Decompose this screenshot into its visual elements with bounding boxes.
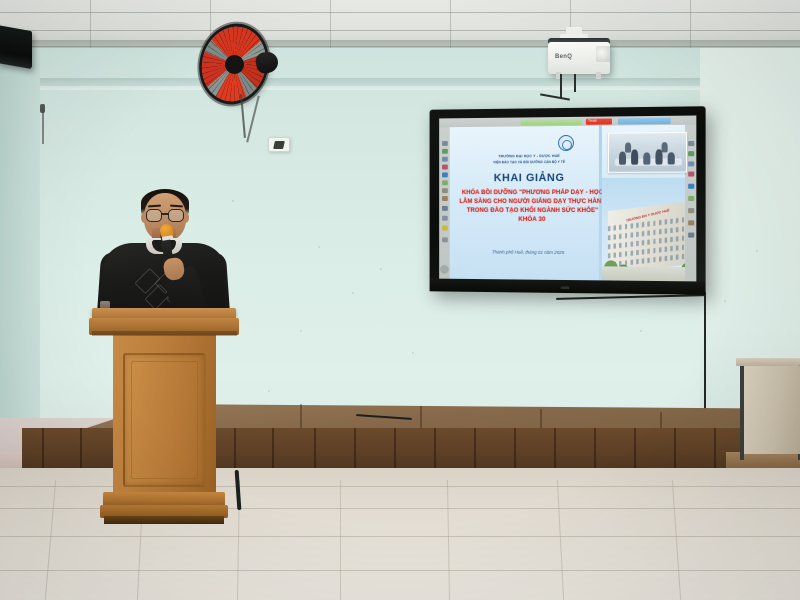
display-brand-logo: IWB xyxy=(561,285,570,290)
slide-org-line-1: TRƯỜNG ĐẠI HỌC Y - DƯỢC HUẾ xyxy=(463,154,596,159)
screen-surface[interactable]: Thoát xyxy=(439,116,696,282)
rail-icon-1[interactable] xyxy=(442,141,448,146)
rail-icon-6[interactable] xyxy=(442,180,448,185)
conference-hall-photo: BenQ Thoát xyxy=(0,0,800,600)
rail-r-icon-5[interactable] xyxy=(688,184,694,189)
slide-body-line-1: KHÓA BỒI DƯỠNG "PHƯƠNG PHÁP DẠY - HỌC xyxy=(454,189,612,196)
slide-body-line-2: LÂM SÀNG CHO NGƯỜI GIẢNG DẠY THỰC HÀNH xyxy=(454,198,612,205)
toolbar-blue-panel[interactable] xyxy=(618,117,671,124)
slide-body-line-4: KHÓA 30 xyxy=(454,216,612,223)
left-wall xyxy=(0,48,40,418)
rail-icon-12[interactable] xyxy=(442,237,448,242)
presentation-display[interactable]: Thoát xyxy=(430,106,706,295)
rail-r-icon-9[interactable] xyxy=(688,233,694,238)
side-table-panel xyxy=(744,366,800,454)
rail-icon-10[interactable] xyxy=(442,216,448,221)
slide-heading: KHAI GIẢNG xyxy=(463,172,596,184)
wall-outlet-icon xyxy=(268,137,290,152)
rail-icon-9[interactable] xyxy=(442,206,448,211)
rail-icon-2[interactable] xyxy=(442,149,448,154)
wall-fan-icon xyxy=(198,28,286,108)
rail-r-icon-7[interactable] xyxy=(688,208,694,213)
rail-icon-5[interactable] xyxy=(442,172,448,177)
projector-lens xyxy=(596,46,610,62)
rail-r-icon-1[interactable] xyxy=(688,141,694,146)
eyeglasses-icon xyxy=(146,209,162,222)
rail-icon-11[interactable] xyxy=(442,226,448,231)
rail-r-icon-3[interactable] xyxy=(688,161,694,166)
projector-brand-label: BenQ xyxy=(555,54,572,60)
rail-r-icon-8[interactable] xyxy=(688,220,694,225)
rail-r-icon-6[interactable] xyxy=(688,196,694,201)
slide-classroom-photo xyxy=(608,132,687,173)
left-tool-rail[interactable] xyxy=(439,127,450,279)
toolbar-red-label: Thoát xyxy=(588,119,597,124)
side-table-icon xyxy=(736,358,800,366)
slide-body-line-3: TRONG ĐÀO TẠO KHỐI NGÀNH SỨC KHỎE" xyxy=(454,207,612,214)
slide-content: TRƯỜNG ĐẠI HỌC Y - DƯỢC HUẾ VIỆN ĐÀO TẠO… xyxy=(450,125,685,282)
rail-home-button[interactable] xyxy=(440,265,449,274)
slide-building-photo: TRƯỜNG ĐH Y DƯỢC HUẾ xyxy=(602,178,685,282)
rail-icon-4[interactable] xyxy=(442,165,448,170)
slide-org-line-2: VIỆN ĐÀO TẠO VÀ BỒI DƯỠNG CÁN BỘ Y TẾ xyxy=(463,160,596,165)
toolbar-green-panel[interactable] xyxy=(521,118,582,125)
university-emblem-icon xyxy=(558,135,574,151)
rail-icon-8[interactable] xyxy=(442,196,448,201)
slide-footer-date: Thành phố Huế, tháng 01 năm 2025 xyxy=(465,249,592,255)
wall-monitor-icon xyxy=(0,25,32,69)
rail-icon-3[interactable] xyxy=(442,157,448,162)
podium-body xyxy=(113,335,216,503)
rail-r-icon-2[interactable] xyxy=(688,151,694,156)
rail-r-icon-4[interactable] xyxy=(688,171,694,176)
rail-icon-7[interactable] xyxy=(442,188,448,193)
